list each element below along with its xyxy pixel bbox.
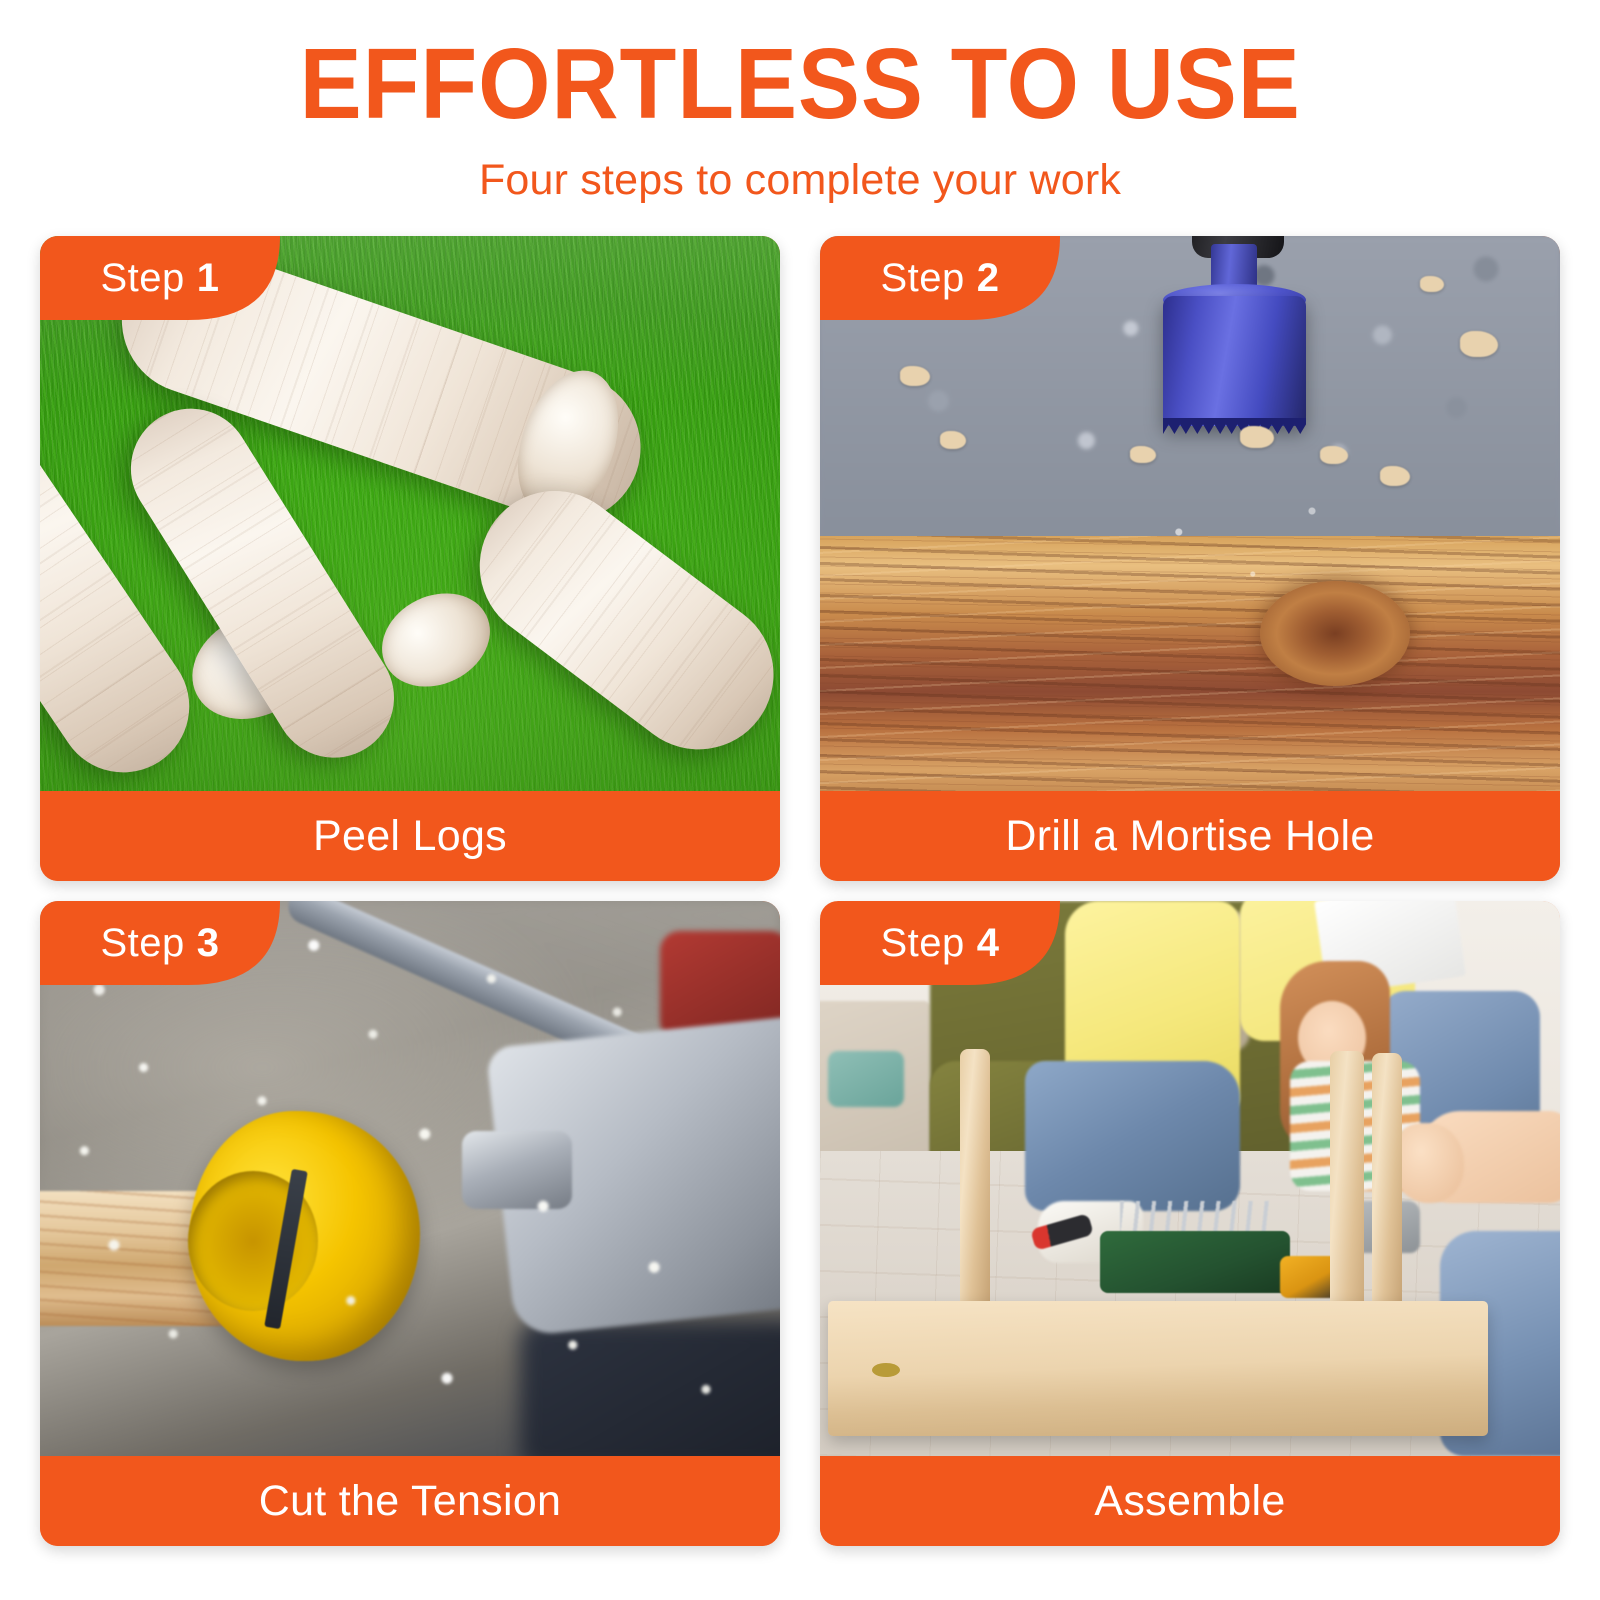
step-caption-1: Peel Logs: [40, 791, 780, 881]
wood-chip: [1420, 276, 1444, 292]
adult-jeans-left: [1025, 1061, 1240, 1211]
infographic-page: EFFORTLESS TO USE Four steps to complete…: [0, 0, 1600, 1600]
pillow: [828, 1051, 904, 1107]
step-number: 3: [197, 921, 220, 966]
wood-knot: [1260, 581, 1410, 686]
steps-grid: Step 1 Peel Logs: [40, 236, 1560, 1566]
wood-chip: [1240, 426, 1274, 448]
page-subtitle: Four steps to complete your work: [479, 156, 1121, 205]
step-badge-3: Step 3: [40, 901, 340, 985]
page-title: EFFORTLESS TO USE: [299, 34, 1300, 134]
wood-chip: [900, 366, 930, 386]
step-caption-3: Cut the Tension: [40, 1456, 780, 1546]
step-number: 1: [197, 256, 220, 301]
table-top-panel: [828, 1301, 1488, 1436]
step-word: Step: [100, 256, 184, 301]
step-badge-2: Step 2: [820, 236, 1120, 320]
step-badge-text-4: Step 4: [820, 901, 1060, 985]
step-badge-text-3: Step 3: [40, 901, 280, 985]
hole-saw-body: [1163, 296, 1306, 426]
hand-holding-leg: [1392, 1123, 1464, 1203]
dark-blur-region: [520, 1321, 780, 1456]
step-badge-text-1: Step 1: [40, 236, 280, 320]
step-card-1[interactable]: Step 1 Peel Logs: [40, 236, 780, 881]
green-tool-case: [1100, 1231, 1290, 1293]
step-number: 4: [977, 921, 1000, 966]
step-number: 2: [977, 256, 1000, 301]
step-word: Step: [880, 256, 964, 301]
step-badge-text-2: Step 2: [820, 236, 1060, 320]
step-badge-1: Step 1: [40, 236, 340, 320]
wood-chip: [1320, 446, 1348, 464]
header: EFFORTLESS TO USE Four steps to complete…: [0, 0, 1600, 225]
log-grain: [820, 536, 1560, 791]
step-caption-4: Assemble: [820, 1456, 1560, 1546]
step-word: Step: [880, 921, 964, 966]
wood-chip: [1380, 466, 1410, 486]
step-card-3[interactable]: Step 3 Cut the Tension: [40, 901, 780, 1546]
wood-chip: [940, 431, 966, 449]
step-card-2[interactable]: Step 2 Drill a Mortise Hole: [820, 236, 1560, 881]
table-leg: [1372, 1053, 1402, 1323]
step-badge-4: Step 4: [820, 901, 1120, 985]
table-leg: [960, 1049, 990, 1311]
wood-chip: [1460, 331, 1498, 357]
step-word: Step: [100, 921, 184, 966]
wood-chip: [1130, 446, 1156, 463]
log-workpiece: [820, 536, 1560, 791]
step-caption-2: Drill a Mortise Hole: [820, 791, 1560, 881]
step-card-4[interactable]: Step 4 Assemble: [820, 901, 1560, 1546]
drill-chuck: [462, 1131, 572, 1209]
